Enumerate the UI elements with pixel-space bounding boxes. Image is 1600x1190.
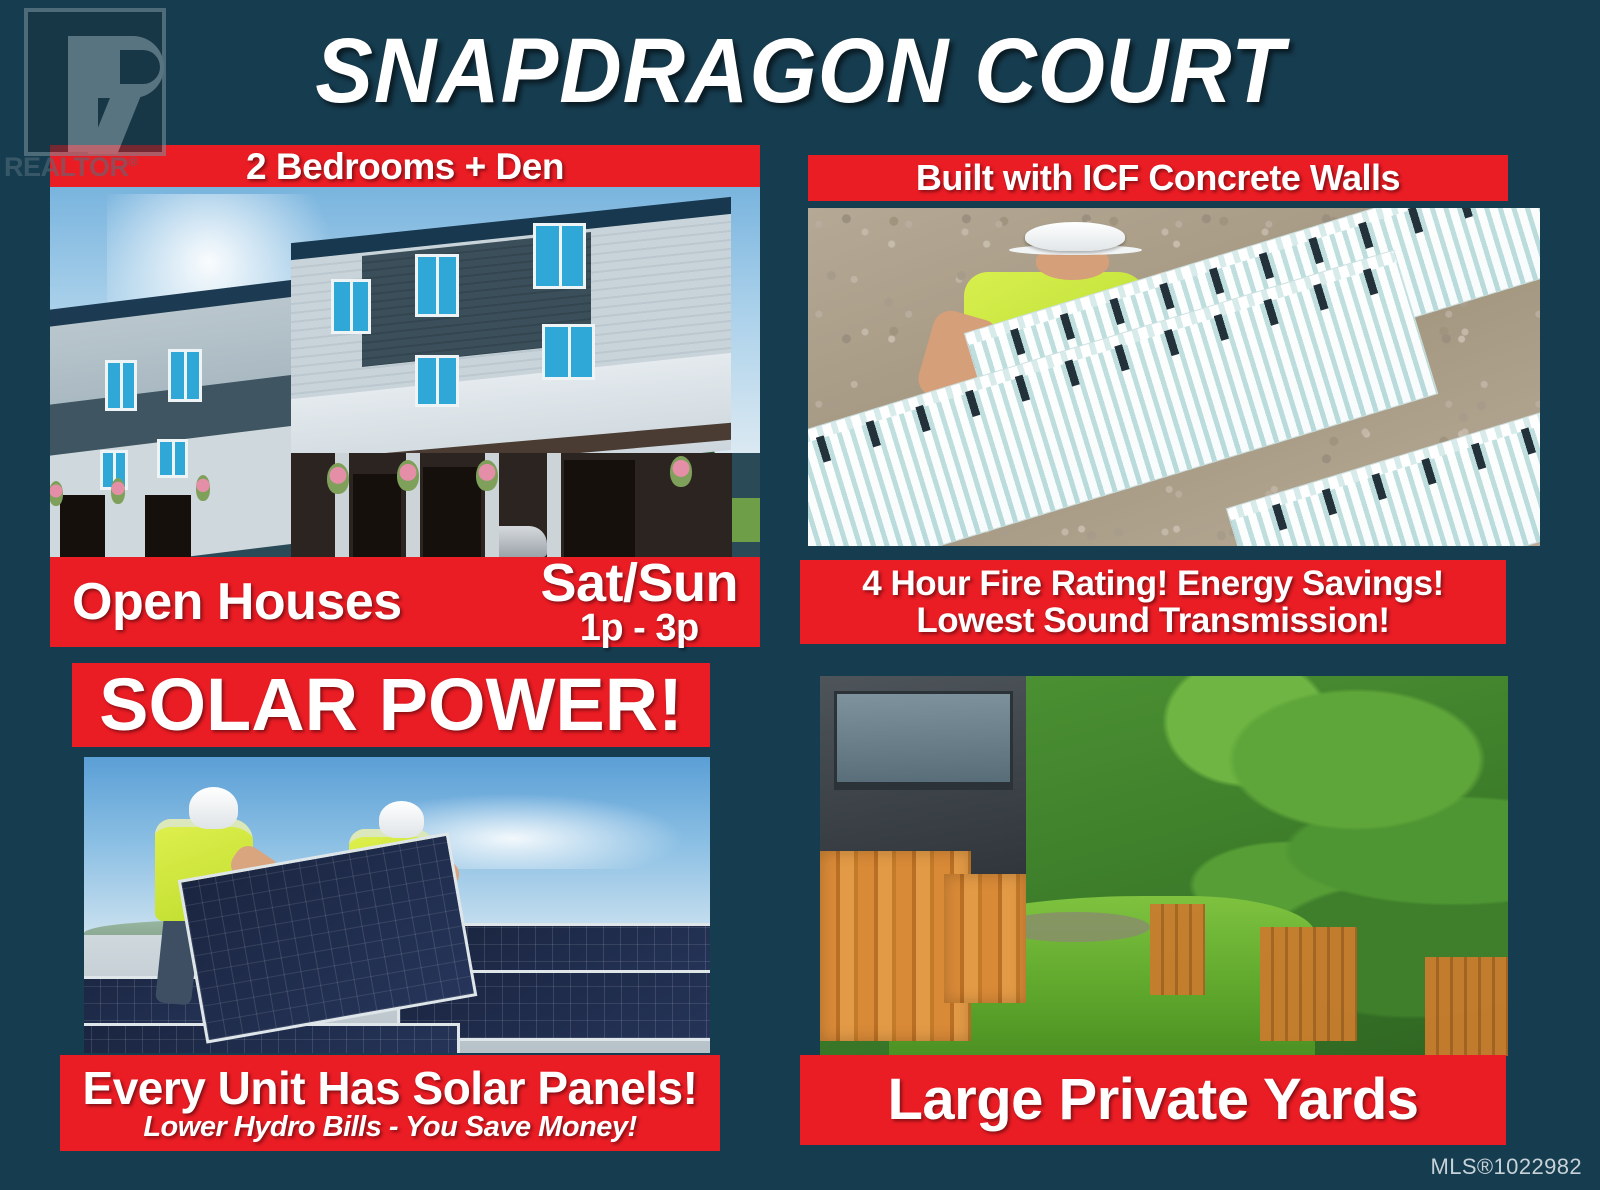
flower-basket bbox=[476, 460, 498, 491]
mls-number: MLS®1022982 bbox=[1431, 1154, 1583, 1180]
townhouse-block-main bbox=[291, 209, 731, 557]
open-house-days: Sat/Sun bbox=[540, 558, 738, 609]
window bbox=[168, 349, 202, 402]
garage-door bbox=[145, 495, 190, 557]
window bbox=[157, 439, 188, 478]
r-stem bbox=[68, 36, 98, 152]
cedar-fence-far bbox=[1150, 904, 1205, 995]
window bbox=[415, 355, 459, 407]
photo-townhouses bbox=[50, 187, 760, 557]
hard-hat bbox=[379, 801, 424, 838]
photo-solar-install bbox=[84, 757, 710, 1053]
r-bowl-hole bbox=[120, 50, 160, 84]
badge-bedrooms: 2 Bedrooms + Den bbox=[50, 145, 760, 187]
garage-door bbox=[423, 467, 480, 557]
open-house-label: Open Houses bbox=[72, 576, 402, 628]
hard-hat bbox=[189, 787, 239, 830]
page-title: SNAPDRAGON COURT bbox=[245, 16, 1354, 126]
flower-basket bbox=[50, 481, 63, 506]
window bbox=[542, 324, 595, 380]
garage-pillar bbox=[547, 453, 561, 557]
flower-basket bbox=[196, 475, 210, 500]
r-bowl bbox=[90, 36, 164, 98]
solar-benefits-banner: Every Unit Has Solar Panels! Lower Hydro… bbox=[60, 1055, 720, 1151]
flower-basket bbox=[111, 478, 125, 503]
badge-yards: Large Private Yards bbox=[800, 1055, 1506, 1145]
open-house-hours: 1p - 3p bbox=[580, 610, 699, 646]
flower-basket bbox=[397, 460, 419, 491]
glass-balcony bbox=[834, 691, 1013, 790]
hard-hat bbox=[1025, 222, 1125, 251]
badge-solar-power: SOLAR POWER! bbox=[72, 663, 710, 747]
window bbox=[533, 223, 586, 289]
open-house-banner: Open Houses Sat/Sun 1p - 3p bbox=[50, 557, 760, 647]
badge-icf: Built with ICF Concrete Walls bbox=[808, 155, 1508, 201]
icf-benefit-line-1: 4 Hour Fire Rating! Energy Savings! bbox=[862, 565, 1444, 602]
cedar-fence-right bbox=[1260, 927, 1356, 1041]
icf-benefit-line-2: Lowest Sound Transmission! bbox=[916, 602, 1389, 639]
solar-subline: Lower Hydro Bills - You Save Money! bbox=[143, 1112, 636, 1142]
townhouse-scene bbox=[50, 187, 760, 557]
solar-scene bbox=[84, 757, 710, 1053]
flower-basket bbox=[670, 456, 692, 487]
solar-headline: Every Unit Has Solar Panels! bbox=[83, 1064, 698, 1112]
window bbox=[105, 360, 136, 411]
yard-scene bbox=[820, 676, 1508, 1056]
garage-door bbox=[353, 474, 401, 557]
realtor-r-glyph bbox=[68, 36, 172, 152]
icf-scene bbox=[808, 208, 1540, 546]
flower-basket bbox=[327, 463, 349, 494]
window bbox=[415, 254, 459, 317]
listing-flyer: SNAPDRAGON COURT REALTOR® 2 Bedrooms + D… bbox=[0, 0, 1600, 1190]
window bbox=[331, 279, 371, 335]
realtor-logo-box bbox=[24, 8, 166, 156]
cedar-fence-right-far bbox=[1425, 957, 1508, 1056]
garage-door bbox=[564, 460, 634, 557]
photo-yard bbox=[820, 676, 1508, 1056]
cedar-fence-mid bbox=[944, 874, 1027, 1003]
icf-benefits-banner: 4 Hour Fire Rating! Energy Savings! Lowe… bbox=[800, 560, 1506, 644]
photo-icf-install bbox=[808, 208, 1540, 546]
townhouse-block-left bbox=[50, 276, 327, 557]
garage-door bbox=[60, 495, 105, 557]
